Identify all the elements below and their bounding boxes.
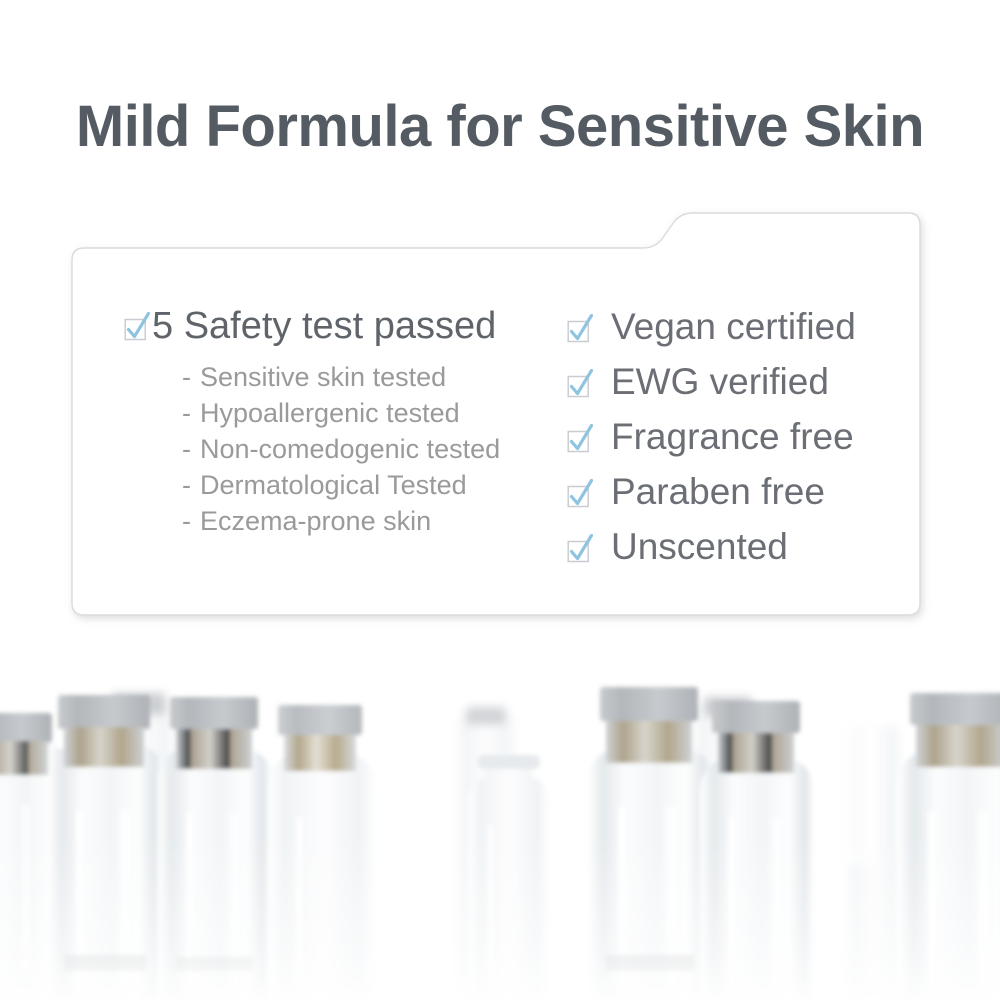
safety-sub-list: -Sensitive skin tested -Hypoallergenic t… <box>182 359 554 539</box>
list-dash: - <box>182 470 191 500</box>
product-infographic: Mild Formula for Sensitive Skin 5 Safety <box>0 0 1000 1000</box>
claim-label: Vegan certified <box>611 305 856 349</box>
list-item-label: Sensitive skin tested <box>200 362 446 392</box>
list-item-label: Eczema-prone skin <box>200 506 431 536</box>
checkbox-checked-icon <box>567 369 593 399</box>
list-item-label: Dermatological Tested <box>200 470 467 500</box>
list-dash: - <box>182 506 191 536</box>
list-item: -Sensitive skin tested <box>182 359 554 395</box>
claims-card: 5 Safety test passed -Sensitive skin tes… <box>60 198 936 630</box>
claim-row-vegan: Vegan certified <box>567 305 917 349</box>
safety-heading-row: 5 Safety test passed <box>124 303 554 349</box>
glass-vials-photo <box>0 655 1000 1000</box>
list-item: -Eczema-prone skin <box>182 503 554 539</box>
checkbox-checked-icon <box>567 534 593 564</box>
checkbox-checked-icon <box>567 479 593 509</box>
list-item: -Non-comedogenic tested <box>182 431 554 467</box>
checkbox-checked-icon <box>567 424 593 454</box>
safety-heading-label: 5 Safety test passed <box>152 303 496 349</box>
list-dash: - <box>182 434 191 464</box>
list-dash: - <box>182 362 191 392</box>
page-title: Mild Formula for Sensitive Skin <box>0 97 1000 158</box>
claim-row-paraben-free: Paraben free <box>567 470 917 514</box>
claim-label: Paraben free <box>611 470 825 514</box>
claim-row-unscented: Unscented <box>567 525 917 569</box>
claim-label: Fragrance free <box>611 415 854 459</box>
card-content: 5 Safety test passed -Sensitive skin tes… <box>72 213 920 615</box>
list-dash: - <box>182 398 191 428</box>
claim-row-ewg: EWG verified <box>567 360 917 404</box>
list-item: -Hypoallergenic tested <box>182 395 554 431</box>
claim-label: EWG verified <box>611 360 829 404</box>
list-item: -Dermatological Tested <box>182 467 554 503</box>
claim-label: Unscented <box>611 525 788 569</box>
checkbox-checked-icon <box>124 312 150 342</box>
left-column: 5 Safety test passed -Sensitive skin tes… <box>124 303 554 539</box>
list-item-label: Non-comedogenic tested <box>200 434 500 464</box>
right-column: Vegan certified EWG verified <box>567 305 917 580</box>
list-item-label: Hypoallergenic tested <box>200 398 460 428</box>
claim-row-fragrance-free: Fragrance free <box>567 415 917 459</box>
checkbox-checked-icon <box>567 314 593 344</box>
